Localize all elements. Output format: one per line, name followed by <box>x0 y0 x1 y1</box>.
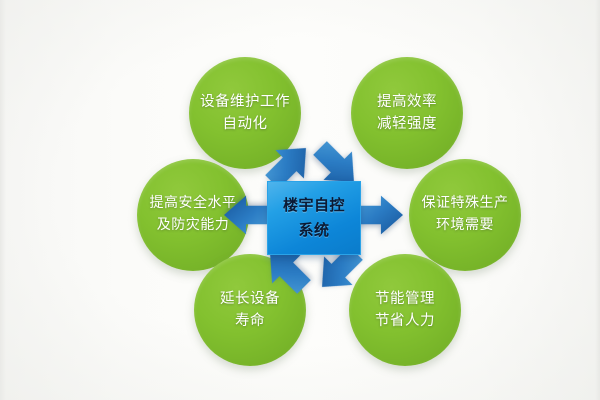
arrow-left-icon <box>223 192 271 238</box>
node-label-line-2: 减轻强度 <box>377 113 437 135</box>
node-label-line-1: 延长设备 <box>220 288 280 310</box>
node-label-line-1: 设备维护工作 <box>200 91 290 113</box>
diagram-canvas: 设备维护工作 自动化 提高效率 减轻强度 提高安全水平 及防灾能力 保证特殊生产… <box>0 0 600 400</box>
node-label-line-2: 节省人力 <box>375 310 435 332</box>
center-node-building-automation-system[interactable]: 楼宇自控 系统 <box>267 181 361 255</box>
center-label-line-1: 楼宇自控 <box>283 193 345 218</box>
node-label-line-1: 提高效率 <box>377 91 437 113</box>
node-label-line-2: 寿命 <box>235 310 265 332</box>
node-label-line-2: 及防灾能力 <box>157 215 230 237</box>
node-label-line-1: 保证特殊生产 <box>422 193 509 215</box>
node-label-line-2: 环境需要 <box>436 215 494 237</box>
node-circle-top-right[interactable]: 提高效率 减轻强度 <box>351 57 463 169</box>
node-label-line-1: 节能管理 <box>375 288 435 310</box>
center-label-line-2: 系统 <box>298 218 329 243</box>
node-circle-right[interactable]: 保证特殊生产 环境需要 <box>409 159 521 271</box>
arrow-right-icon <box>356 192 404 238</box>
node-label-line-2: 自动化 <box>223 113 268 135</box>
